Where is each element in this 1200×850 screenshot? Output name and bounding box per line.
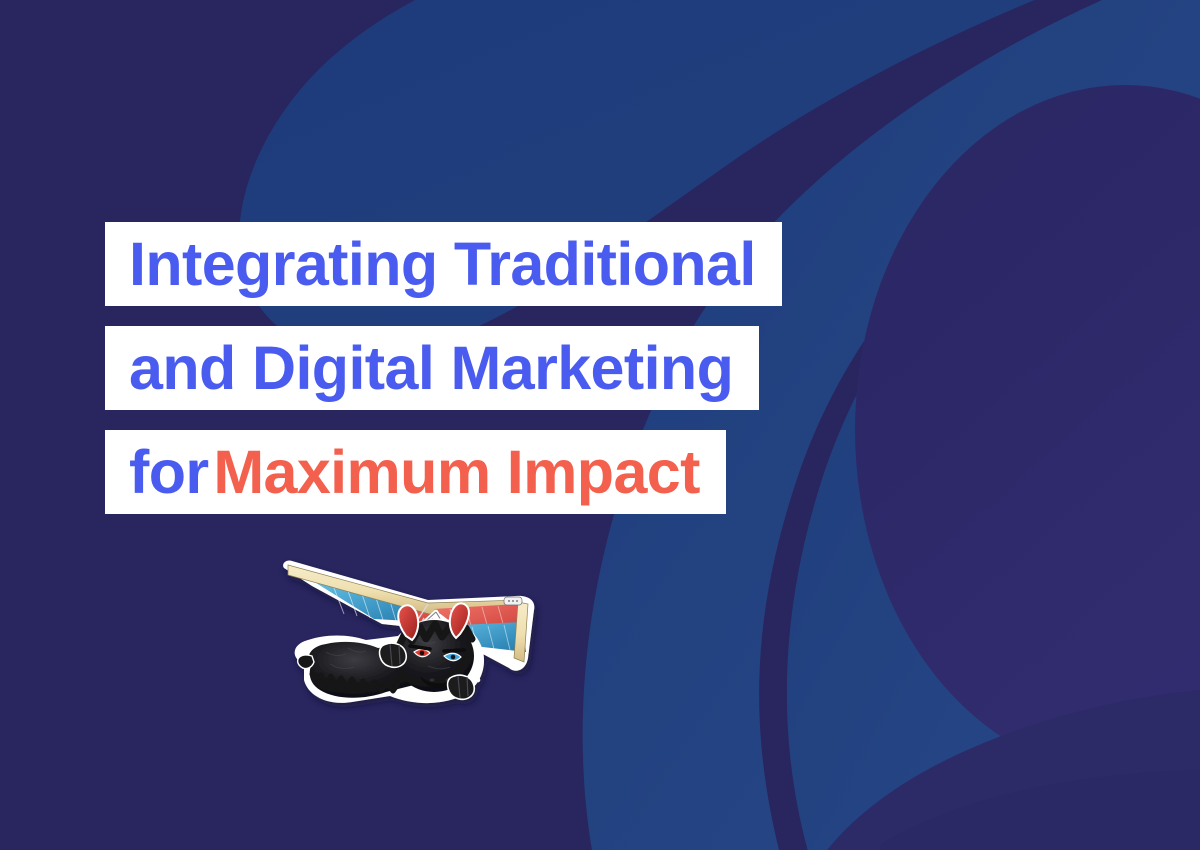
buffalo-pupil-right (451, 655, 456, 660)
buffalo-tail (298, 655, 314, 669)
right-swoosh-arc-extension (787, 100, 1200, 850)
headline-line-3: for Maximum Impact (105, 430, 726, 514)
swoosh-inner-highlight (870, 770, 1200, 850)
buffalo-pupil-left (420, 651, 425, 656)
buffalo-hoof-rear (448, 675, 475, 699)
swoosh-inner-cut (855, 85, 1200, 775)
marketing-banner: Integrating Traditional and Digital Mark… (0, 0, 1200, 850)
headline-line-1-text: Integrating Traditional (129, 234, 756, 295)
buffalo-hoof-front (380, 643, 407, 667)
headline-line-2: and Digital Marketing (105, 326, 759, 410)
headline-line-1: Integrating Traditional (105, 222, 782, 306)
headline-block: Integrating Traditional and Digital Mark… (105, 222, 782, 514)
buffalo-hang-glider-illustration (278, 552, 578, 732)
headline-line-3-text-accent: Maximum Impact (213, 442, 700, 503)
glider-tip-fitting-dots (508, 600, 518, 602)
headline-line-3-text-primary: for (129, 442, 209, 503)
bottom-right-wedge (805, 690, 1200, 850)
headline-line-2-text: and Digital Marketing (129, 338, 733, 399)
